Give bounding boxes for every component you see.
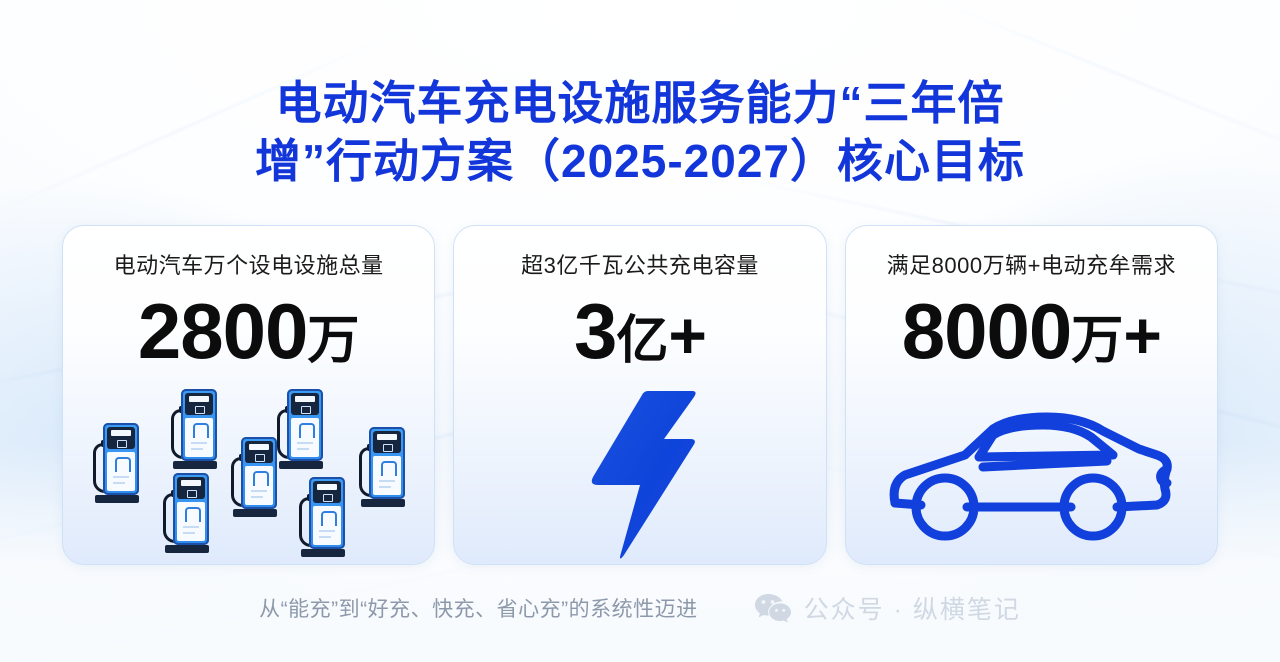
metric-card-row: 电动汽车万个设电设施总量 2800万 — [62, 225, 1218, 565]
pile-base — [301, 549, 345, 557]
panel-line — [191, 442, 207, 444]
panel-line — [183, 526, 199, 528]
card-value-unit: 亿 — [616, 312, 668, 370]
pile-screen — [245, 441, 273, 463]
card-value-suffix: + — [1123, 298, 1161, 372]
page-title: 电动汽车充电设施服务能力“三年倍 增”行动方案（2025-2027）核心目标 — [0, 74, 1280, 190]
pile-base — [165, 545, 209, 553]
pile-panel — [313, 506, 341, 545]
charging-pile-icon — [277, 389, 323, 475]
charging-pile-icon — [299, 477, 345, 563]
card-value-number: 2800 — [138, 287, 308, 375]
pile-panel — [107, 452, 135, 491]
card-value-unit: 万 — [1071, 312, 1123, 370]
panel-line — [113, 476, 129, 478]
card-value-suffix: + — [668, 298, 706, 372]
panel-line — [319, 536, 331, 538]
metric-card-total-facilities: 电动汽车万个设电设施总量 2800万 — [62, 225, 435, 565]
pile-screen — [313, 481, 341, 503]
pile-base — [95, 495, 139, 503]
charging-pile-icon — [359, 427, 405, 513]
pile-base — [279, 461, 323, 469]
card-subtitle: 电动汽车万个设电设施总量 — [114, 253, 384, 279]
card-value-number: 3 — [574, 287, 616, 375]
metric-card-vehicle-demand: 满足8000万辆+电动充牟需求 8000万+ — [845, 225, 1218, 565]
panel-line — [319, 530, 335, 532]
lightning-bolt-svg — [580, 387, 700, 562]
wechat-icon — [754, 593, 792, 623]
panel-line — [297, 448, 309, 450]
charging-pile-cluster-icon — [63, 385, 434, 564]
watermark-text: 公众号 · 纵横笔记 — [804, 590, 1021, 626]
card-artwork — [846, 385, 1217, 564]
electric-car-svg — [881, 405, 1181, 545]
panel-line — [379, 486, 391, 488]
pile-screen — [291, 393, 319, 415]
pile-panel — [245, 466, 273, 505]
plug-glyph — [253, 471, 269, 486]
charging-pile-icon — [231, 437, 277, 523]
card-subtitle: 满足8000万辆+电动充牟需求 — [887, 253, 1176, 279]
panel-line — [251, 490, 267, 492]
plug-glyph — [299, 423, 315, 438]
panel-line — [379, 480, 395, 482]
page-title-line-1: 电动汽车充电设施服务能力“三年倍 — [110, 74, 1170, 132]
pile-screen — [107, 427, 135, 449]
footer-note: 从“能充”到“好充、快充、省心充”的系统性迈进 — [259, 593, 697, 623]
charging-pile-icon — [163, 473, 209, 559]
footer: 从“能充”到“好充、快充、省心充”的系统性迈进 公众号 · 纵横笔记 — [0, 590, 1280, 626]
panel-line — [251, 496, 263, 498]
panel-line — [191, 448, 203, 450]
plug-glyph — [321, 511, 337, 526]
card-value: 2800万 — [138, 287, 360, 385]
card-value: 3亿+ — [574, 287, 706, 385]
infographic-poster: 电动汽车充电设施服务能力“三年倍 增”行动方案（2025-2027）核心目标 电… — [0, 0, 1280, 662]
panel-line — [183, 532, 195, 534]
pile-panel — [185, 418, 213, 457]
charging-pile-icon — [171, 389, 217, 475]
card-value-number: 8000 — [902, 287, 1072, 375]
panel-line — [297, 442, 313, 444]
card-artwork — [454, 385, 825, 564]
plug-glyph — [193, 423, 209, 438]
card-value: 8000万+ — [902, 287, 1161, 385]
pile-base — [173, 461, 217, 469]
card-value-unit: 万 — [307, 312, 359, 370]
plug-glyph — [381, 461, 397, 476]
plug-glyph — [115, 457, 131, 472]
pile-panel — [291, 418, 319, 457]
panel-line — [113, 482, 125, 484]
electric-car-icon — [846, 385, 1217, 564]
pile-base — [361, 499, 405, 507]
pile-panel — [373, 456, 401, 495]
watermark-badge: 公众号 · 纵横笔记 — [754, 590, 1021, 626]
plug-glyph — [185, 507, 201, 522]
pile-base — [233, 509, 277, 517]
pile-screen — [177, 477, 205, 499]
card-subtitle: 超3亿千瓦公共充电容量 — [521, 253, 759, 279]
pile-panel — [177, 502, 205, 541]
metric-card-public-capacity: 超3亿千瓦公共充电容量 3亿+ — [453, 225, 826, 565]
pile-screen — [185, 393, 213, 415]
charging-pile-icon — [93, 423, 139, 509]
lightning-bolt-icon — [454, 385, 825, 564]
pile-screen — [373, 431, 401, 453]
page-title-line-2: 增”行动方案（2025-2027）核心目标 — [110, 132, 1170, 190]
